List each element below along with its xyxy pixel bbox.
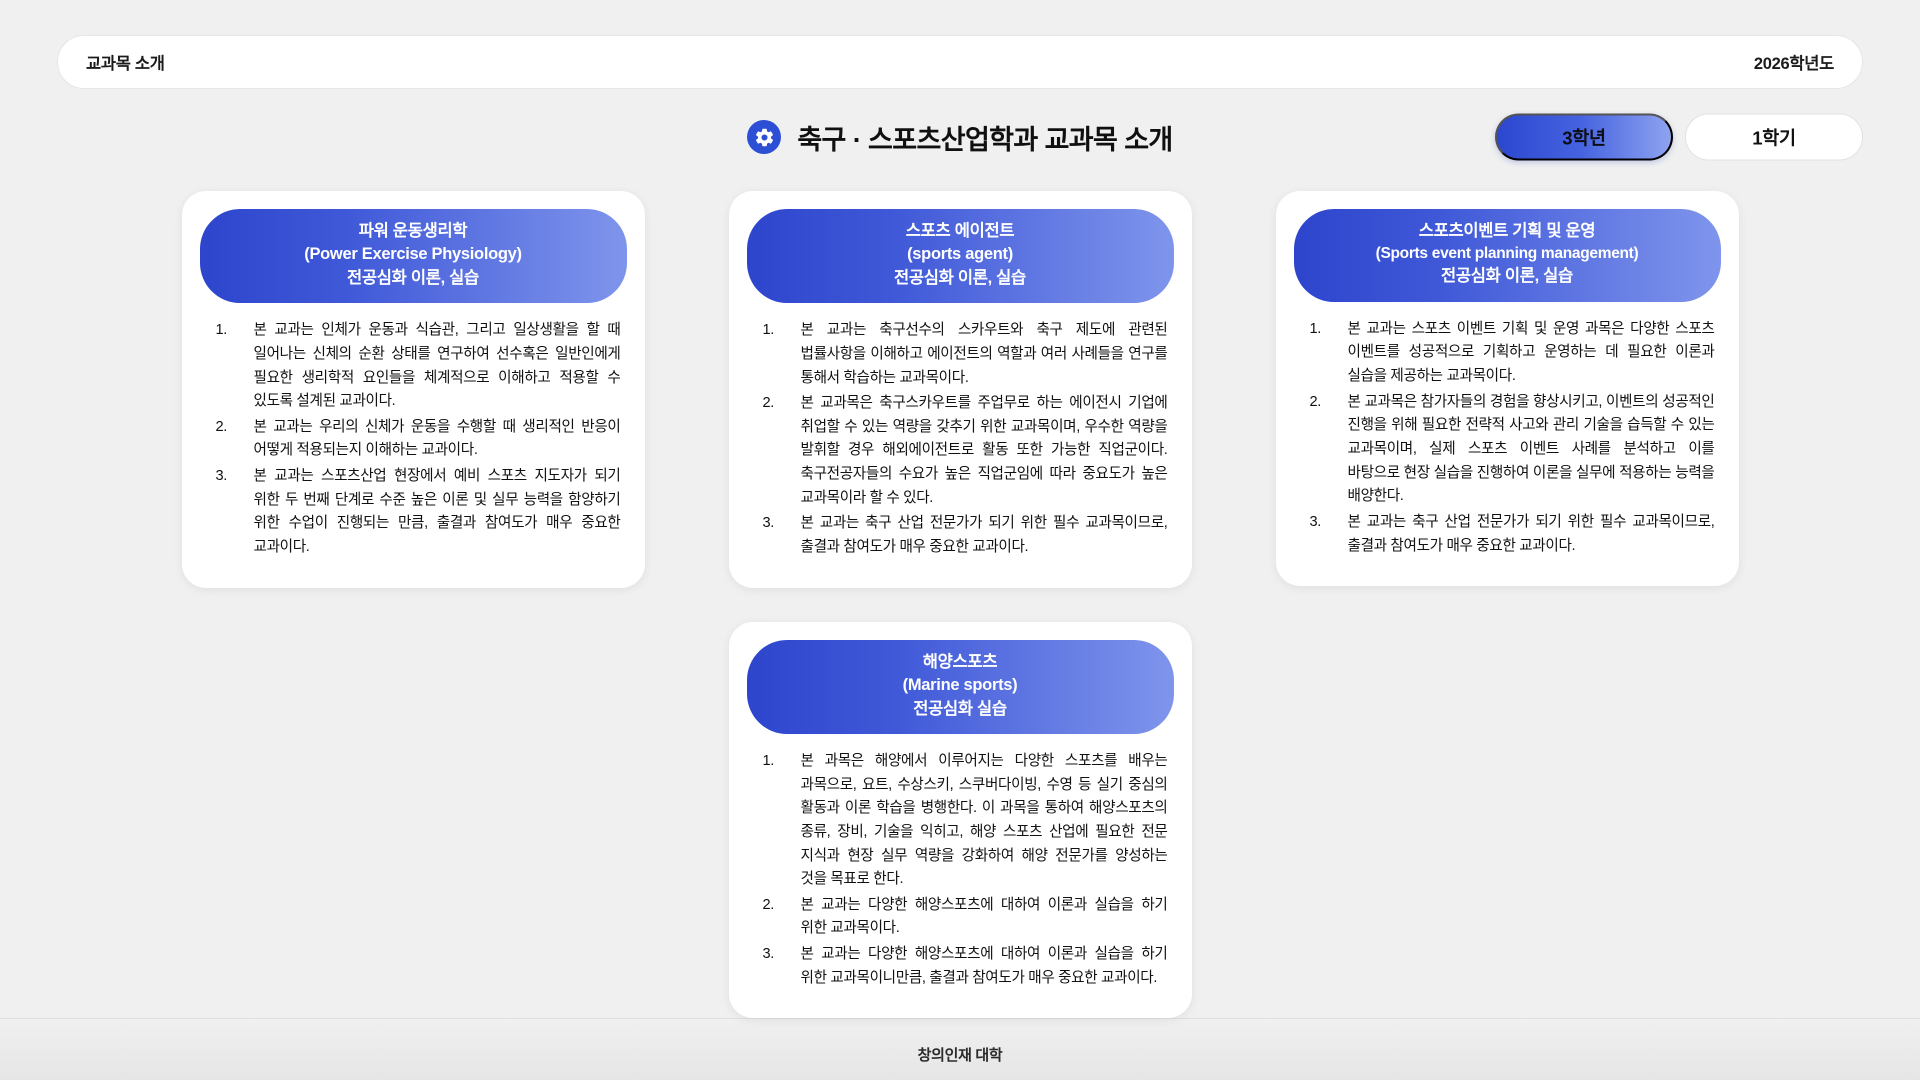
- academic-year-label: 2026학년도: [1754, 50, 1834, 74]
- filter-chip-group: 3학년 1학기: [1495, 114, 1863, 161]
- grade-chip[interactable]: 3학년: [1495, 114, 1673, 161]
- page-title: 축구 · 스포츠산업학과 교과목 소개: [797, 118, 1172, 157]
- course-card-header: 파워 운동생리학 (Power Exercise Physiology) 전공심…: [200, 209, 627, 303]
- list-item: 본 교과목은 참가자들의 경험을 향상시키고, 이벤트의 성공적인 진행을 위해…: [1302, 391, 1715, 509]
- course-card[interactable]: 스포츠이벤트 기획 및 운영 (Sports event planning ma…: [1276, 191, 1739, 586]
- course-description-list: 본 교과는 축구선수의 스카우트와 축구 제도에 관련된 법률사항을 이해하고 …: [755, 319, 1168, 559]
- list-item: 본 교과는 스포츠산업 현장에서 예비 스포츠 지도자가 되기 위한 두 번째 …: [208, 465, 621, 560]
- course-card-body: 본 과목은 해양에서 이루어지는 다양한 스포츠를 배우는 과목으로, 요트, …: [747, 750, 1174, 990]
- course-card-body: 본 교과는 인체가 운동과 식습관, 그리고 일상생활을 할 때 일어나는 신체…: [200, 319, 627, 559]
- footer-label: 창의인재 대학: [918, 1044, 1003, 1065]
- list-item: 본 교과는 축구선수의 스카우트와 축구 제도에 관련된 법률사항을 이해하고 …: [755, 319, 1168, 390]
- grid-spacer: [1276, 622, 1739, 1019]
- course-card[interactable]: 파워 운동생리학 (Power Exercise Physiology) 전공심…: [182, 191, 645, 588]
- breadcrumb: 교과목 소개: [86, 50, 165, 74]
- course-card[interactable]: 스포츠 에이전트 (sports agent) 전공심화 이론, 실습 본 교과…: [729, 191, 1192, 588]
- list-item: 본 교과는 다양한 해양스포츠에 대하여 이론과 실습을 하기 위한 교과목이니…: [755, 943, 1168, 990]
- course-card-header: 스포츠 에이전트 (sports agent) 전공심화 이론, 실습: [747, 209, 1174, 303]
- course-subtitle: 전공심화 실습: [761, 698, 1160, 721]
- course-title-ko: 해양스포츠: [761, 651, 1160, 674]
- course-title-en: (Sports event planning management): [1308, 243, 1707, 265]
- top-bar: 교과목 소개 2026학년도: [57, 35, 1863, 89]
- course-title-en: (Power Exercise Physiology): [214, 243, 613, 266]
- course-subtitle: 전공심화 이론, 실습: [761, 267, 1160, 290]
- grid-spacer: [182, 622, 645, 1019]
- course-title-ko: 파워 운동생리학: [214, 220, 613, 243]
- course-title-en: (Marine sports): [761, 674, 1160, 697]
- list-item: 본 교과는 축구 산업 전문가가 되기 위한 필수 교과목이므로, 출결과 참여…: [755, 512, 1168, 559]
- course-title-ko: 스포츠 에이전트: [761, 220, 1160, 243]
- course-subtitle: 전공심화 이론, 실습: [214, 267, 613, 290]
- list-item: 본 교과는 인체가 운동과 식습관, 그리고 일상생활을 할 때 일어나는 신체…: [208, 319, 621, 414]
- course-grid: 파워 운동생리학 (Power Exercise Physiology) 전공심…: [57, 191, 1863, 1018]
- course-description-list: 본 과목은 해양에서 이루어지는 다양한 스포츠를 배우는 과목으로, 요트, …: [755, 750, 1168, 990]
- page-root: 교과목 소개 2026학년도 축구 · 스포츠산업학과 교과목 소개 3학년 1…: [0, 0, 1920, 1080]
- course-title-en: (sports agent): [761, 243, 1160, 266]
- list-item: 본 교과는 우리의 신체가 운동을 수행할 때 생리적인 반응이 어떻게 적용되…: [208, 416, 621, 463]
- list-item: 본 교과는 다양한 해양스포츠에 대하여 이론과 실습을 하기 위한 교과목이다…: [755, 894, 1168, 941]
- list-item: 본 교과는 축구 산업 전문가가 되기 위한 필수 교과목이므로, 출결과 참여…: [1302, 511, 1715, 558]
- list-item: 본 교과는 스포츠 이벤트 기획 및 운영 과목은 다양한 스포츠 이벤트를 성…: [1302, 318, 1715, 389]
- course-card-header: 해양스포츠 (Marine sports) 전공심화 실습: [747, 640, 1174, 734]
- course-title-ko: 스포츠이벤트 기획 및 운영: [1308, 220, 1707, 243]
- gear-icon: [747, 120, 781, 154]
- course-subtitle: 전공심화 이론, 실습: [1308, 265, 1707, 288]
- course-description-list: 본 교과는 인체가 운동과 식습관, 그리고 일상생활을 할 때 일어나는 신체…: [208, 319, 621, 559]
- semester-chip[interactable]: 1학기: [1685, 114, 1863, 161]
- course-description-list: 본 교과는 스포츠 이벤트 기획 및 운영 과목은 다양한 스포츠 이벤트를 성…: [1302, 318, 1715, 558]
- course-card-body: 본 교과는 축구선수의 스카우트와 축구 제도에 관련된 법률사항을 이해하고 …: [747, 319, 1174, 559]
- course-card[interactable]: 해양스포츠 (Marine sports) 전공심화 실습 본 과목은 해양에서…: [729, 622, 1192, 1019]
- page-title-group: 축구 · 스포츠산업학과 교과목 소개: [747, 118, 1172, 157]
- footer-bar: 창의인재 대학: [0, 1018, 1920, 1080]
- header-row: 축구 · 스포츠산업학과 교과목 소개 3학년 1학기: [0, 89, 1920, 185]
- list-item: 본 교과목은 축구스카우트를 주업무로 하는 에이전시 기업에 취업할 수 있는…: [755, 392, 1168, 510]
- course-board: 파워 운동생리학 (Power Exercise Physiology) 전공심…: [0, 185, 1920, 1018]
- course-card-body: 본 교과는 스포츠 이벤트 기획 및 운영 과목은 다양한 스포츠 이벤트를 성…: [1294, 318, 1721, 558]
- course-card-header: 스포츠이벤트 기획 및 운영 (Sports event planning ma…: [1294, 209, 1721, 302]
- list-item: 본 과목은 해양에서 이루어지는 다양한 스포츠를 배우는 과목으로, 요트, …: [755, 750, 1168, 892]
